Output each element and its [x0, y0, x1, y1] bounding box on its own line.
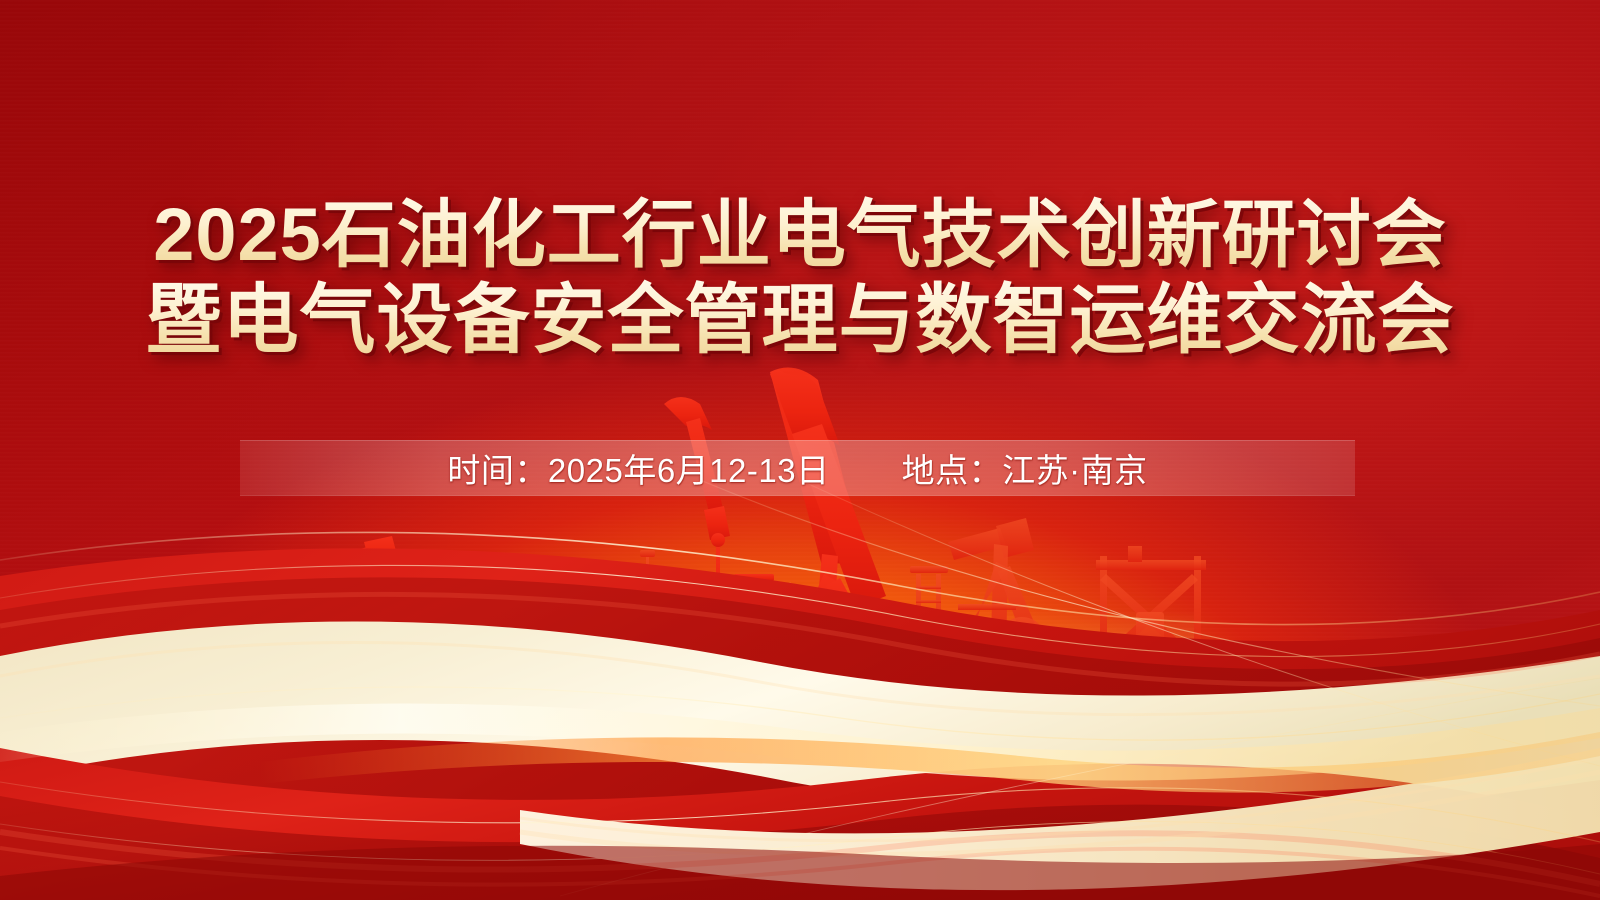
page-title: 2025石油化工行业电气技术创新研讨会 暨电气设备安全管理与数智运维交流会 — [0, 192, 1600, 364]
event-time: 时间：2025年6月12-13日 — [447, 444, 829, 492]
ribbon-wave-graphic — [0, 480, 1600, 900]
event-location: 地点：江苏·南京 — [902, 444, 1148, 492]
title-line-1: 2025石油化工行业电气技术创新研讨会 — [0, 192, 1600, 278]
title-line-2: 暨电气设备安全管理与数智运维交流会 — [0, 278, 1600, 364]
conference-poster: 2025石油化工行业电气技术创新研讨会 暨电气设备安全管理与数智运维交流会 时间… — [0, 0, 1600, 900]
event-info-bar: 时间：2025年6月12-13日 地点：江苏·南京 — [240, 440, 1355, 496]
